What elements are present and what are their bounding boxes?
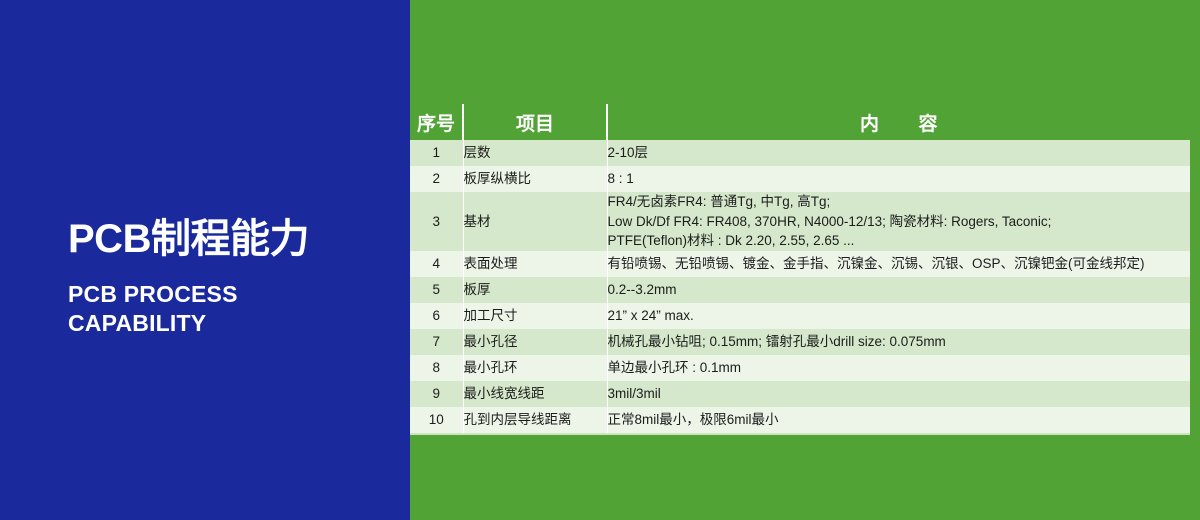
title-block: PCB制程能力 PCB PROCESS CAPABILITY [68, 218, 398, 338]
table-row: 9最小线宽线距3mil/3mil [410, 381, 1190, 407]
cell-item: 最小孔径 [463, 329, 607, 355]
cell-item: 板厚纵横比 [463, 166, 607, 192]
cell-content: 正常8mil最小，极限6mil最小 [607, 407, 1190, 434]
cell-no: 9 [410, 381, 463, 407]
table-row: 3基材FR4/无卤素FR4: 普通Tg, 中Tg, 高Tg; Low Dk/Df… [410, 192, 1190, 251]
cell-content: FR4/无卤素FR4: 普通Tg, 中Tg, 高Tg; Low Dk/Df FR… [607, 192, 1190, 251]
table-header-row: 序号 项目 内 容 [410, 104, 1190, 140]
left-title-panel: PCB制程能力 PCB PROCESS CAPABILITY [0, 0, 410, 520]
table-row: 10孔到内层导线距离正常8mil最小，极限6mil最小 [410, 407, 1190, 434]
page-subtitle-line-1: PCB PROCESS [68, 280, 398, 309]
table-row: 4表面处理有铅喷锡、无铅喷锡、镀金、金手指、沉镍金、沉锡、沉银、OSP、沉镍钯金… [410, 251, 1190, 277]
right-content-panel: 序号 项目 内 容 1层数2-10层2板厚纵横比8 : 13基材FR4/无卤素F… [410, 0, 1200, 520]
cell-item: 孔到内层导线距离 [463, 407, 607, 434]
column-header-content: 内 容 [607, 104, 1190, 140]
cell-item: 层数 [463, 140, 607, 166]
table-row: 6加工尺寸21” x 24” max. [410, 303, 1190, 329]
cell-no: 8 [410, 355, 463, 381]
cell-content: 8 : 1 [607, 166, 1190, 192]
cell-no: 7 [410, 329, 463, 355]
table-row: 7最小孔径机械孔最小钻咀; 0.15mm; 镭射孔最小drill size: 0… [410, 329, 1190, 355]
cell-item: 表面处理 [463, 251, 607, 277]
table-body: 1层数2-10层2板厚纵横比8 : 13基材FR4/无卤素FR4: 普通Tg, … [410, 140, 1190, 434]
table-row: 2板厚纵横比8 : 1 [410, 166, 1190, 192]
cell-no: 2 [410, 166, 463, 192]
cell-content: 21” x 24” max. [607, 303, 1190, 329]
column-header-item: 项目 [463, 104, 607, 140]
cell-item: 基材 [463, 192, 607, 251]
cell-no: 5 [410, 277, 463, 303]
cell-item: 最小孔环 [463, 355, 607, 381]
column-header-no: 序号 [410, 104, 463, 140]
cell-content: 2-10层 [607, 140, 1190, 166]
page-title: PCB制程能力 [68, 218, 398, 260]
table-row: 1层数2-10层 [410, 140, 1190, 166]
page-subtitle-line-2: CAPABILITY [68, 309, 398, 338]
cell-item: 加工尺寸 [463, 303, 607, 329]
table-row: 5板厚0.2--3.2mm [410, 277, 1190, 303]
cell-no: 6 [410, 303, 463, 329]
cell-item: 最小线宽线距 [463, 381, 607, 407]
table-row: 8最小孔环单边最小孔环 : 0.1mm [410, 355, 1190, 381]
slide-root: PCB制程能力 PCB PROCESS CAPABILITY 序号 项目 内 容 [0, 0, 1200, 520]
pcb-capability-table: 序号 项目 内 容 1层数2-10层2板厚纵横比8 : 13基材FR4/无卤素F… [410, 104, 1190, 435]
cell-content: 机械孔最小钻咀; 0.15mm; 镭射孔最小drill size: 0.075m… [607, 329, 1190, 355]
cell-no: 1 [410, 140, 463, 166]
cell-no: 3 [410, 192, 463, 251]
cell-content: 3mil/3mil [607, 381, 1190, 407]
cell-content: 有铅喷锡、无铅喷锡、镀金、金手指、沉镍金、沉锡、沉银、OSP、沉镍钯金(可金线邦… [607, 251, 1190, 277]
cell-content: 0.2--3.2mm [607, 277, 1190, 303]
cell-no: 4 [410, 251, 463, 277]
cell-content: 单边最小孔环 : 0.1mm [607, 355, 1190, 381]
cell-item: 板厚 [463, 277, 607, 303]
table-header: 序号 项目 内 容 [410, 104, 1190, 140]
page-subtitle: PCB PROCESS CAPABILITY [68, 280, 398, 338]
cell-no: 10 [410, 407, 463, 434]
